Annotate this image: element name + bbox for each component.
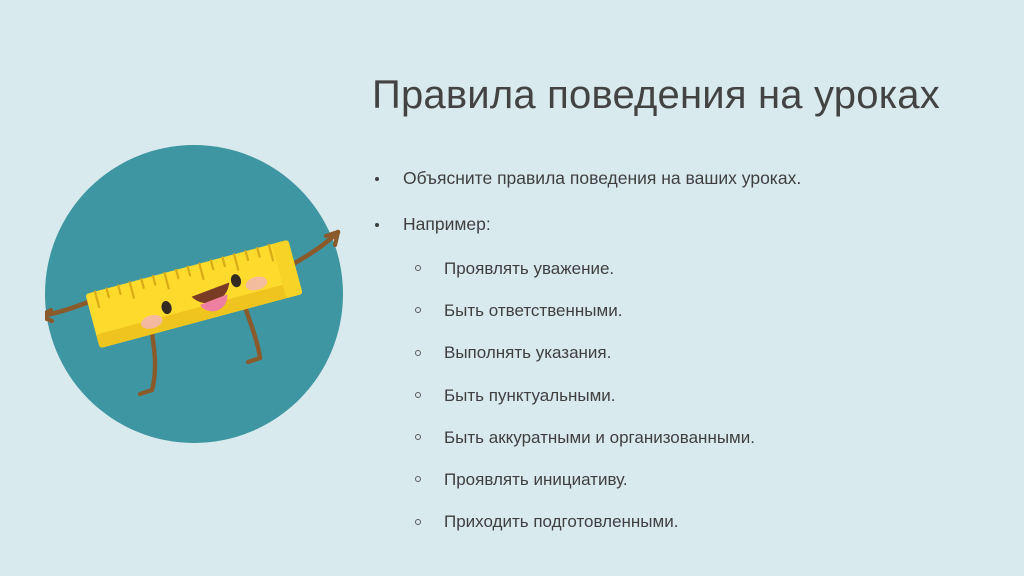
sub-bullet-item: Проявлять инициативу. bbox=[372, 469, 961, 490]
bullet-circle-icon bbox=[415, 350, 421, 356]
bullet-circle-icon bbox=[415, 476, 421, 482]
sub-bullet-text: Быть аккуратными и организованными. bbox=[444, 428, 755, 447]
sub-bullet-item: Быть пунктуальными. bbox=[372, 385, 961, 406]
bullet-circle-icon bbox=[415, 392, 421, 398]
slide-title: Правила поведения на уроках bbox=[372, 72, 984, 119]
bullet-dot-icon bbox=[375, 177, 379, 181]
sub-bullet-item: Приходить подготовленными. bbox=[372, 511, 961, 532]
sub-bullet-text: Выполнять указания. bbox=[444, 343, 611, 362]
bullet-level1: Например: Проявлять уважение. Быть ответ… bbox=[372, 214, 992, 533]
bullet-list: Объясните правила поведения на ваших уро… bbox=[372, 168, 992, 533]
bullet-circle-icon bbox=[415, 307, 421, 313]
sub-bullet-item: Быть аккуратными и организованными. bbox=[372, 427, 961, 448]
sub-bullet-item: Быть ответственными. bbox=[372, 300, 961, 321]
sub-bullet-text: Быть пунктуальными. bbox=[444, 386, 616, 405]
sub-bullet-group: Проявлять уважение. Быть ответственными.… bbox=[372, 258, 961, 533]
bullet-dot-icon bbox=[375, 223, 379, 227]
bullet-text: Например: bbox=[403, 214, 491, 234]
bullet-text: Объясните правила поведения на ваших уро… bbox=[403, 168, 801, 188]
sub-bullet-item: Выполнять указания. bbox=[372, 342, 961, 363]
bullet-circle-icon bbox=[415, 265, 421, 271]
bullet-circle-icon bbox=[415, 434, 421, 440]
sub-bullet-text: Приходить подготовленными. bbox=[444, 512, 678, 531]
sub-bullet-text: Проявлять инициативу. bbox=[444, 470, 628, 489]
sub-bullet-item: Проявлять уважение. bbox=[372, 258, 961, 279]
sub-bullet-text: Быть ответственными. bbox=[444, 301, 622, 320]
sub-bullet-text: Проявлять уважение. bbox=[444, 259, 614, 278]
bullet-circle-icon bbox=[415, 519, 421, 525]
sub-bullet-list: Проявлять уважение. Быть ответственными.… bbox=[372, 258, 961, 533]
slide-canvas: Правила поведения на уроках Объясните пр… bbox=[0, 0, 1024, 576]
ruler-character-illustration bbox=[45, 145, 343, 443]
bullet-level1: Объясните правила поведения на ваших уро… bbox=[372, 168, 992, 190]
